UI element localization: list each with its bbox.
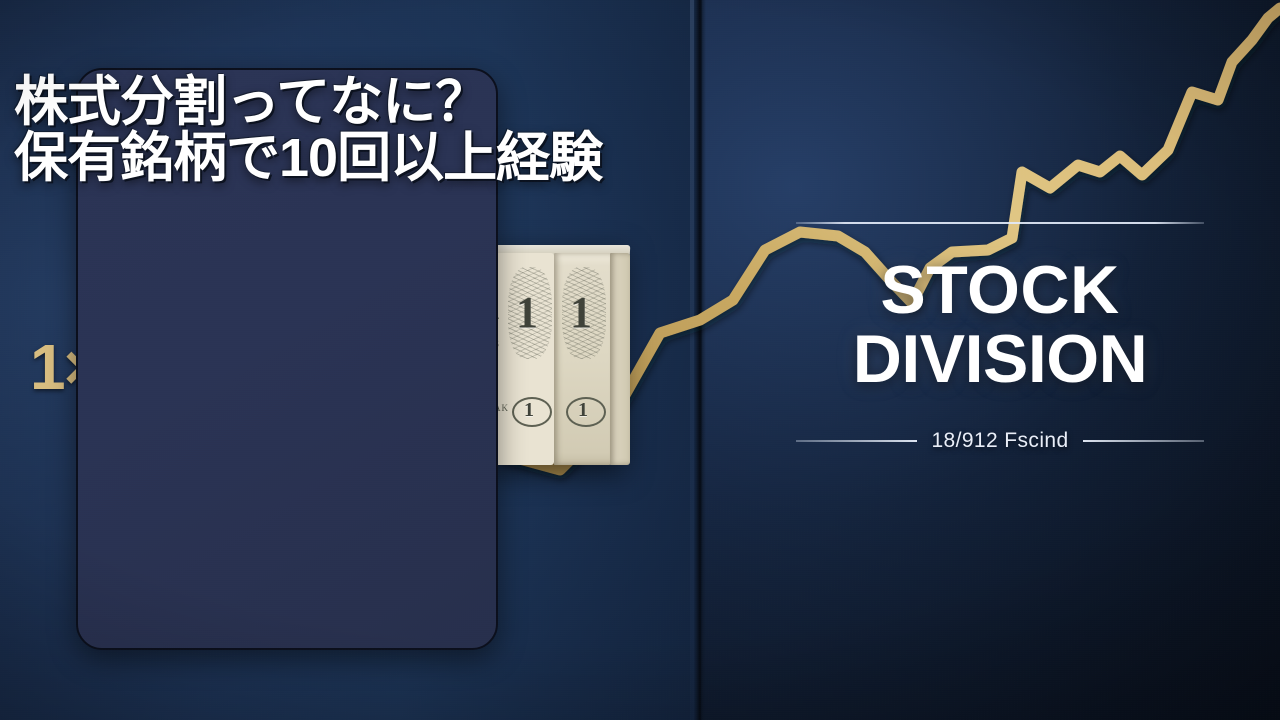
promo-thumbnail: 1× 1 1 L S AK 1 (0, 0, 1280, 720)
page-title-line-1: 株式分割ってなに？ (14, 72, 488, 132)
board-footer: 18/912 Fscind (790, 429, 1210, 453)
bill-number-top-2: 1 (570, 287, 592, 338)
page-title: 株式分割ってなに？ 保有銘柄で10回以上経験 (14, 74, 814, 186)
bill-number-bottom: 1 (524, 399, 534, 422)
bill-number-bottom-2: 1 (578, 399, 588, 422)
page-title-line-2: 保有銘柄で10回以上経験 (14, 130, 814, 186)
board-title: STOCK DIVISION (790, 256, 1210, 395)
board-footer-rule-left (796, 440, 917, 442)
bill-front: 1 1 L S AK (492, 253, 554, 465)
dollar-bill-stack: 1 1 L S AK 1 1 (492, 253, 642, 465)
bill-second: 1 1 (554, 253, 612, 465)
bill-number-top: 1 (516, 287, 538, 338)
board-footer-rule-right (1083, 440, 1204, 442)
board-title-line-2: DIVISION (790, 325, 1210, 394)
board-subtitle: 18/912 Fscind (931, 429, 1068, 453)
bill-back (610, 253, 630, 465)
board-top-rule (796, 222, 1204, 224)
board-title-line-1: STOCK (880, 252, 1119, 328)
stock-division-board: STOCK DIVISION 18/912 Fscind (790, 222, 1210, 453)
